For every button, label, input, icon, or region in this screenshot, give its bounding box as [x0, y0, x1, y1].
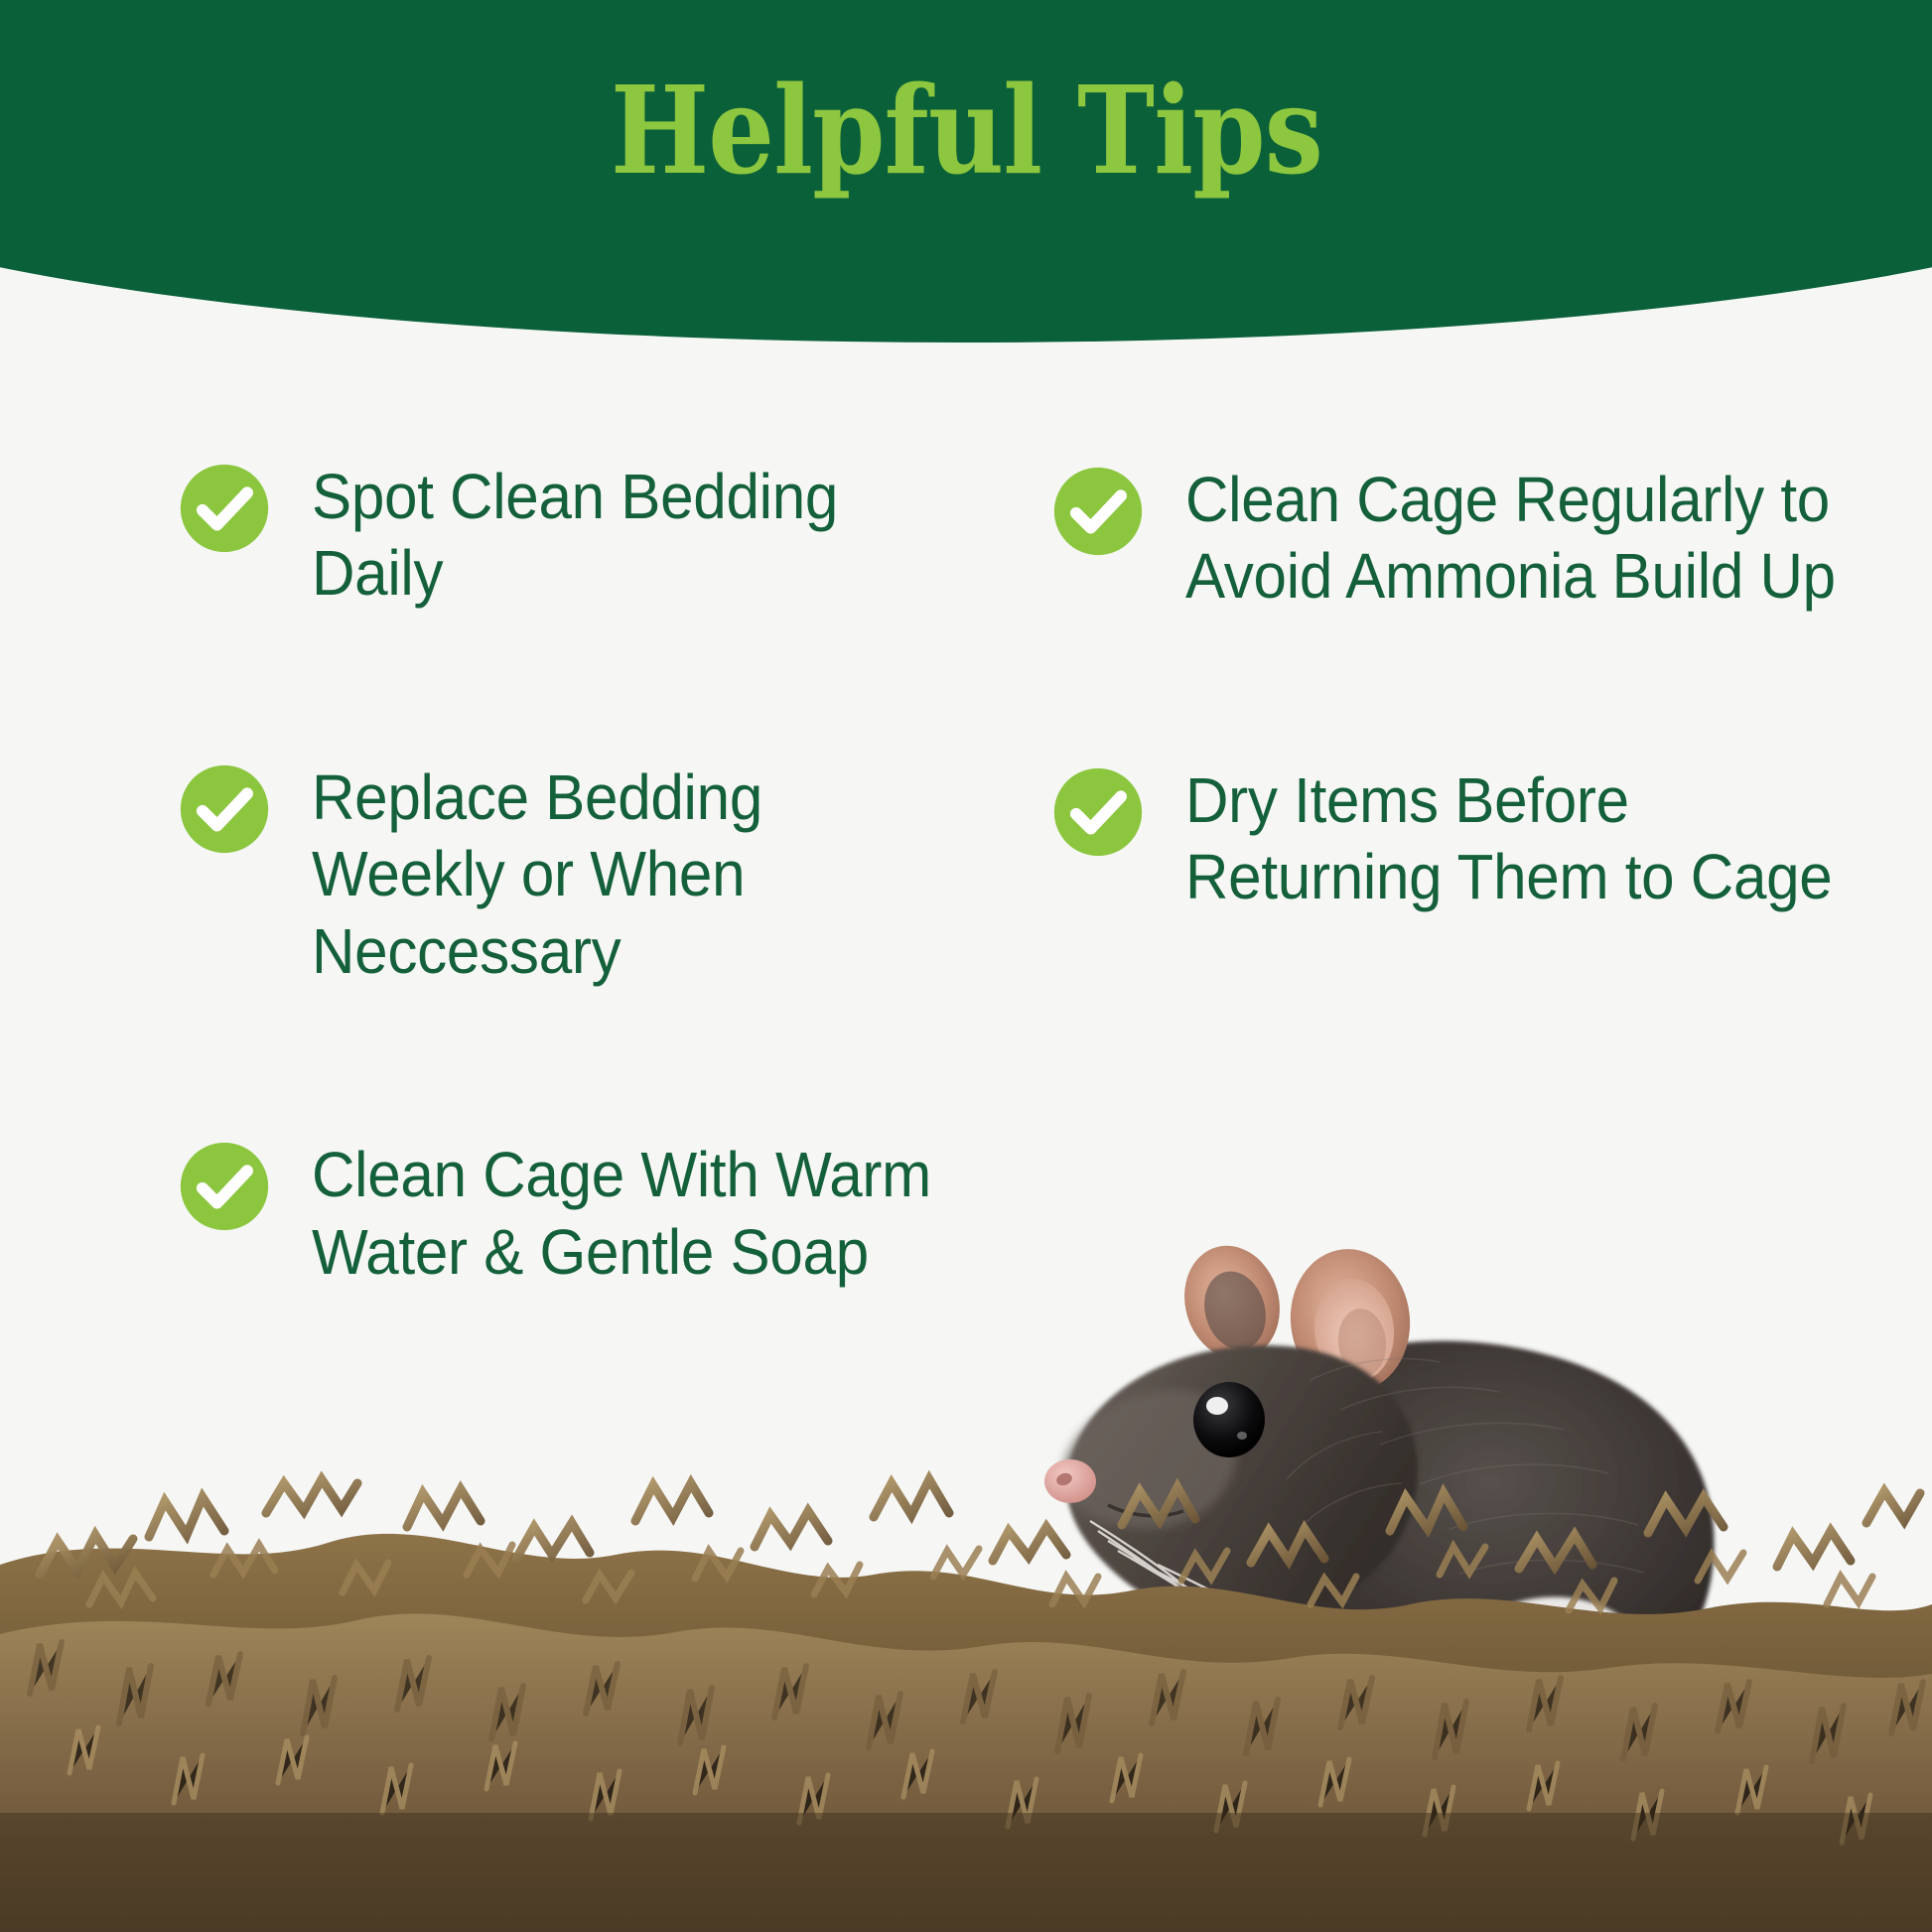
tip-label: Replace Bedding Weekly or When Neccessar… — [312, 759, 965, 990]
rat-nose — [1044, 1459, 1096, 1503]
tip-item: Spot Clean Bedding Daily — [179, 459, 1052, 613]
tip-item: Clean Cage With Warm Water & Gentle Soap — [179, 1137, 1052, 1291]
infographic-canvas: Helpful Tips Spot Clean Bedding Daily Re… — [0, 0, 1932, 1932]
page-title: Helpful Tips — [0, 69, 1932, 191]
rat-illustration — [1013, 1231, 1797, 1787]
check-circle-icon — [179, 463, 270, 554]
tip-item: Clean Cage Regularly to Avoid Ammonia Bu… — [1052, 462, 1932, 616]
tip-label: Spot Clean Bedding Daily — [312, 459, 965, 613]
rat-foot — [1301, 1688, 1364, 1783]
tip-label: Dry Items Before Returning Them to Cage — [1185, 762, 1894, 916]
tip-label: Clean Cage Regularly to Avoid Ammonia Bu… — [1185, 462, 1894, 616]
tip-item: Dry Items Before Returning Them to Cage — [1052, 762, 1932, 916]
check-circle-icon — [1052, 766, 1144, 858]
check-circle-icon — [179, 1141, 270, 1232]
tips-column-left: Spot Clean Bedding Daily Replace Bedding… — [179, 437, 1052, 1438]
rat-eye — [1193, 1382, 1265, 1457]
header-banner: Helpful Tips — [0, 0, 1932, 343]
bedding-shadow — [0, 1813, 1932, 1932]
tip-item: Replace Bedding Weekly or When Neccessar… — [179, 759, 1052, 990]
check-circle-icon — [1052, 466, 1144, 557]
rat-photo — [1013, 1231, 1797, 1787]
check-circle-icon — [179, 763, 270, 855]
rat-belly — [1455, 1596, 1651, 1750]
tip-label: Clean Cage With Warm Water & Gentle Soap — [312, 1137, 965, 1291]
